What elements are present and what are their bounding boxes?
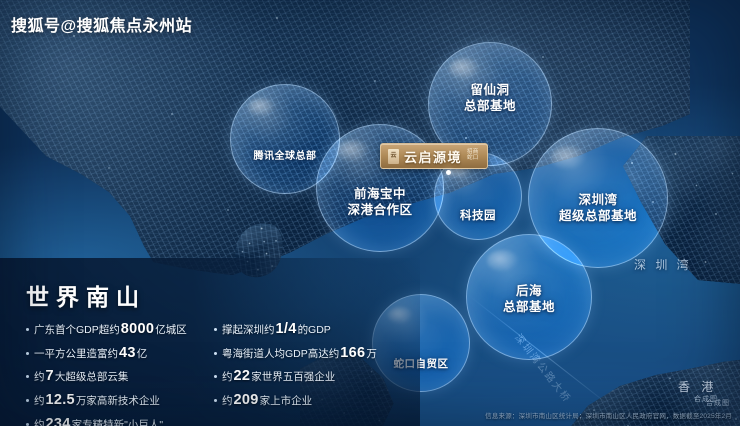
bubble-label-liuxiandong-hq-base: 留仙洞 总部基地 [464,82,516,114]
map-label-shenzhen-bay: 深 圳 湾 [634,256,692,273]
bubble-label-shekou-free-trade-zone: 蛇口自贸区 [394,358,449,371]
bubble-houhai-hq-base[interactable]: 后海 总部基地 [466,234,592,360]
bubble-label-houhai-hq-base: 后海 总部基地 [503,283,555,315]
project-badge-sublabel: 招商 蛇口 [467,150,478,162]
project-badge-yunqi-yuanjing[interactable]: 云 云启源境 招商 蛇口 [380,143,488,169]
infographic-map-canvas: 深圳湾公路大桥 腾讯全球总部 前海宝中 深港合作区 留仙洞 总部基地 科技园 深… [0,0,740,426]
bubble-label-science-tech-park: 科技园 [460,209,496,224]
composite-image-note: 合成图 [706,398,730,408]
project-badge-label: 云启源境 [404,147,462,166]
bubble-label-shenzhen-bay-super-hq-base: 深圳湾 超级总部基地 [559,192,637,224]
channel-watermark: 搜狐号@搜狐焦点永州站 [11,12,192,36]
data-source-note: 信息来源：深圳市南山区统计局；深圳市南山区人民政府官网，数据截至2025年2月 [485,410,732,420]
bubble-label-tencent-global-hq: 腾讯全球总部 [254,151,317,164]
project-location-marker-dot [446,170,451,175]
developer-emblem-icon: 云 [388,149,399,164]
map-label-hong-kong: 香 港 [678,378,717,395]
bubble-label-qianhai-baozhong-cooperation-zone: 前海宝中 深港合作区 [347,186,412,218]
bubble-shekou-free-trade-zone[interactable]: 蛇口自贸区 [372,294,470,392]
